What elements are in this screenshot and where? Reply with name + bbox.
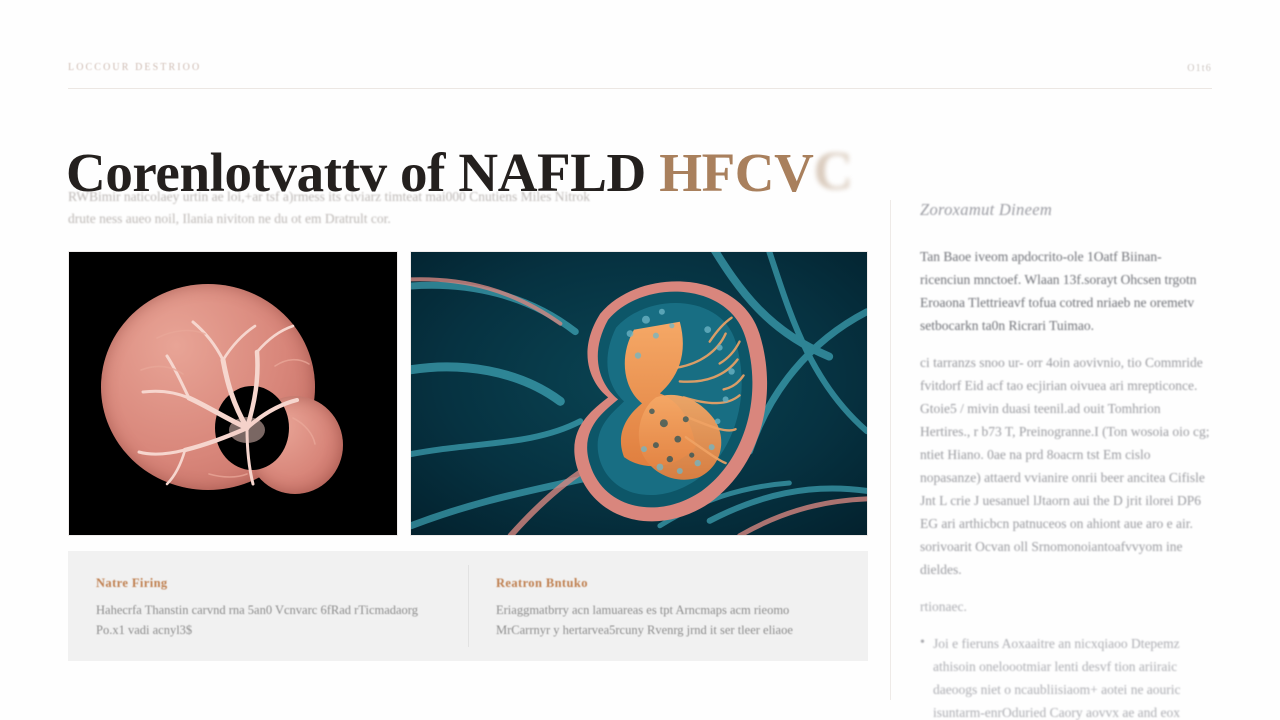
caption-body-2: Eriaggmatbrry acn lamuareas es tpt Arncm… [496, 600, 840, 640]
page-subtitle: RWBimir naticolaey urtin ae loi,+ar tsf … [68, 186, 728, 230]
sidebar-divider [890, 200, 891, 700]
caption-body-1: Hahecrfa Thanstin carvnd rna 5an0 Vcnvar… [96, 600, 440, 640]
sidebar-title: Zoroxamut Dineem [920, 200, 1212, 220]
sidebar-paragraph-2: ci tarranzs snoo ur- orr 4oin aovivnio, … [920, 351, 1212, 581]
subtitle-line-2: drute ness aueo noil, Ilania niviton ne … [68, 208, 728, 230]
caption-heading-1: Natre Firing [96, 576, 440, 591]
eyebrow-label-left: LOCCOUR DESTRIOO [68, 62, 201, 73]
eyebrow-label-right: O1t6 [1187, 63, 1212, 74]
title-smudge-glyph: C [813, 139, 852, 203]
eyebrow-row: LOCCOUR DESTRIOO O1t6 [68, 62, 1212, 86]
kidney-teal-illustration [411, 252, 867, 536]
sidebar-paragraph-4-bullet: Joi e fieruns Aoxaaitre an nicxqiaoo Dte… [920, 632, 1212, 720]
caption-panel: Natre Firing Hahecrfa Thanstin carvnd rn… [68, 551, 868, 661]
caption-cell-1: Natre Firing Hahecrfa Thanstin carvnd rn… [68, 551, 468, 661]
kidney-hilum-notch [215, 386, 289, 470]
figure-kidney-vascular-teal [410, 251, 868, 536]
figure-group [68, 251, 868, 536]
caption-heading-2: Reatron Bntuko [496, 576, 840, 591]
caption-cell-2: Reatron Bntuko Eriaggmatbrry acn lamuare… [468, 551, 868, 661]
kidney-pink-illustration [97, 278, 355, 510]
sidebar: Zoroxamut Dineem Tan Baoe iveom apdocrit… [920, 200, 1212, 720]
page-root: LOCCOUR DESTRIOO O1t6 Corenlotvattv of N… [0, 0, 1280, 720]
subtitle-line-1: RWBimir naticolaey urtin ae loi,+ar tsf … [68, 186, 728, 208]
figure-kidney-cross-section-pink [68, 251, 398, 536]
sidebar-paragraph-1: Tan Baoe iveom apdocrito-ole 1Oatf Biina… [920, 245, 1212, 337]
sidebar-paragraph-3: rtionaec. [920, 595, 1212, 618]
header-divider [68, 88, 1212, 89]
